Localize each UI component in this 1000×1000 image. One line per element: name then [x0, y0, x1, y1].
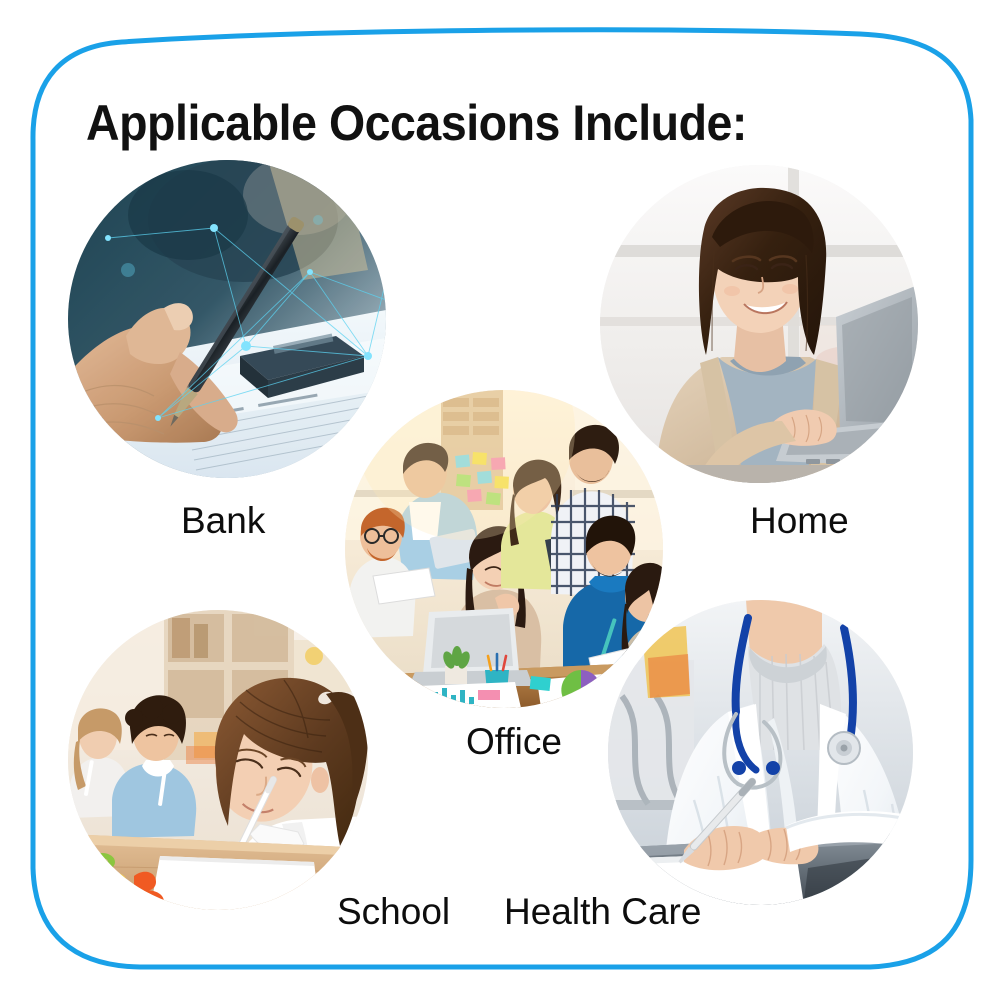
poster: Applicable Occasions Include: — [0, 0, 1000, 1000]
occasion-caption-school: School — [337, 891, 450, 933]
occasion-image-school — [68, 610, 368, 910]
occasion-image-bank — [68, 160, 386, 478]
occasion-image-healthcare — [608, 600, 913, 905]
page-title: Applicable Occasions Include: — [86, 94, 747, 152]
occasion-caption-healthcare: Health Care — [504, 891, 701, 933]
occasion-image-office — [345, 390, 663, 708]
occasion-image-home — [600, 165, 918, 483]
occasion-caption-home: Home — [750, 500, 849, 542]
occasion-caption-bank: Bank — [181, 500, 265, 542]
occasion-caption-office: Office — [466, 721, 562, 763]
